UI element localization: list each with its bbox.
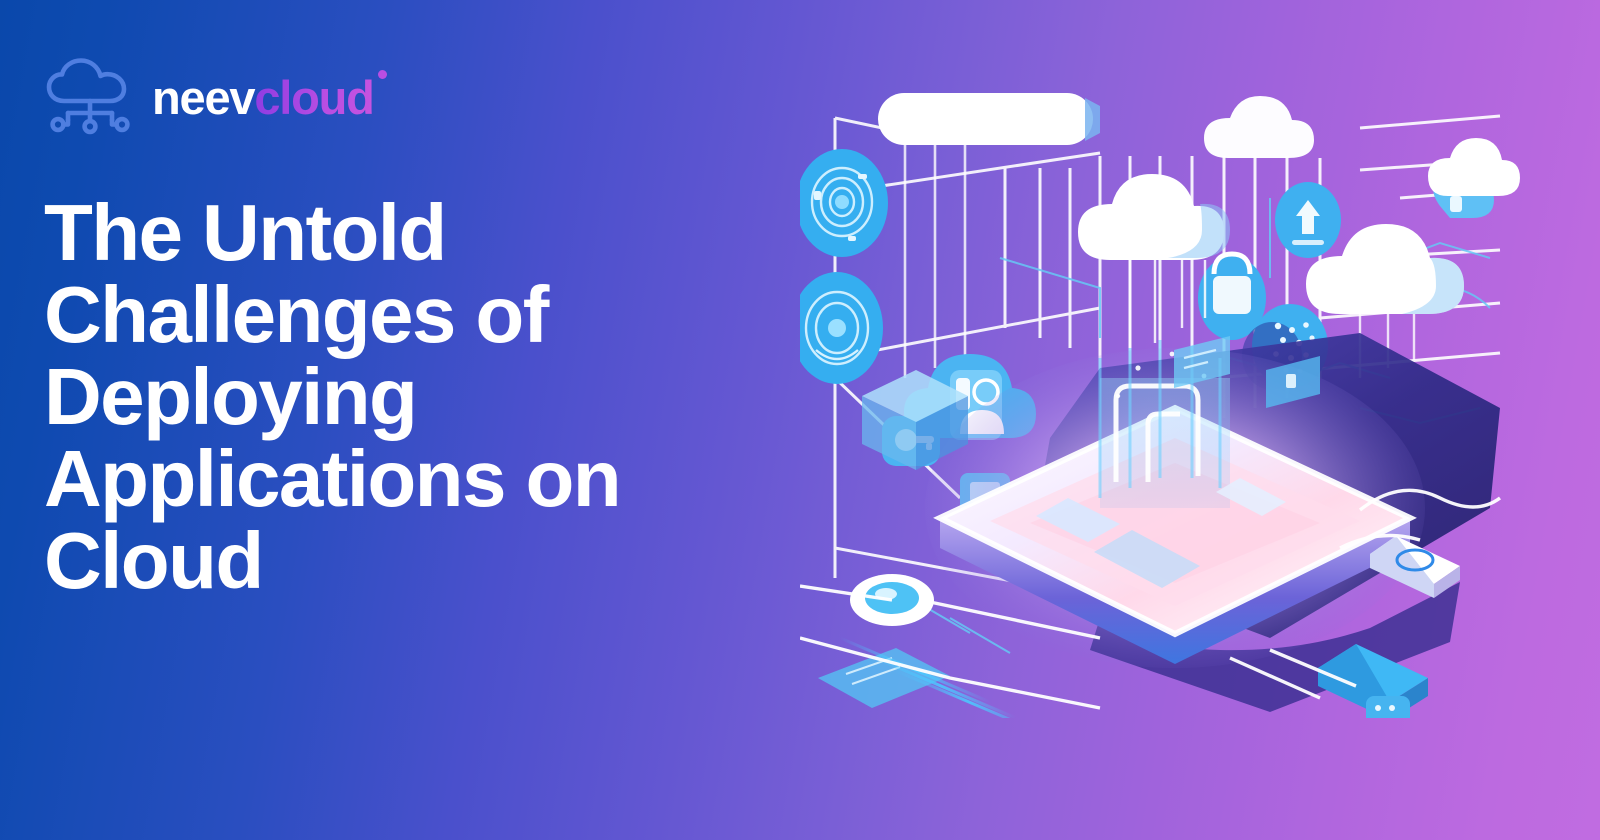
banner-root: neevcloud The Untold Challenges of Deplo… — [0, 0, 1600, 840]
brand-wordmark: neevcloud — [152, 74, 374, 121]
radar-icon-upper — [800, 149, 888, 257]
page-title: The Untold Challenges of Deploying Appli… — [44, 192, 764, 602]
wordmark-neev: neev — [152, 71, 254, 124]
cloud-shape-top — [1204, 96, 1314, 158]
illustration-canvas — [800, 78, 1520, 718]
brand-logo[interactable]: neevcloud — [44, 58, 374, 136]
upload-icon-badge — [1275, 182, 1341, 258]
headline-line-5: Cloud — [44, 520, 764, 602]
cloud-shape-far-right — [1428, 138, 1520, 196]
capsule-bar — [878, 93, 1100, 145]
headline-line-2: Challenges of — [44, 274, 764, 356]
headline-line-4: Applications on — [44, 438, 764, 520]
wordmark-cloud: cloud — [254, 71, 373, 124]
radar-icon-lower — [800, 272, 883, 384]
cloud-network-icon — [44, 58, 136, 136]
hero-illustration — [800, 78, 1520, 718]
registered-mark-icon — [378, 70, 387, 79]
headline-line-1: The Untold — [44, 192, 764, 274]
status-badge-bottom-right — [1366, 696, 1410, 718]
headline-line-3: Deploying — [44, 356, 764, 438]
